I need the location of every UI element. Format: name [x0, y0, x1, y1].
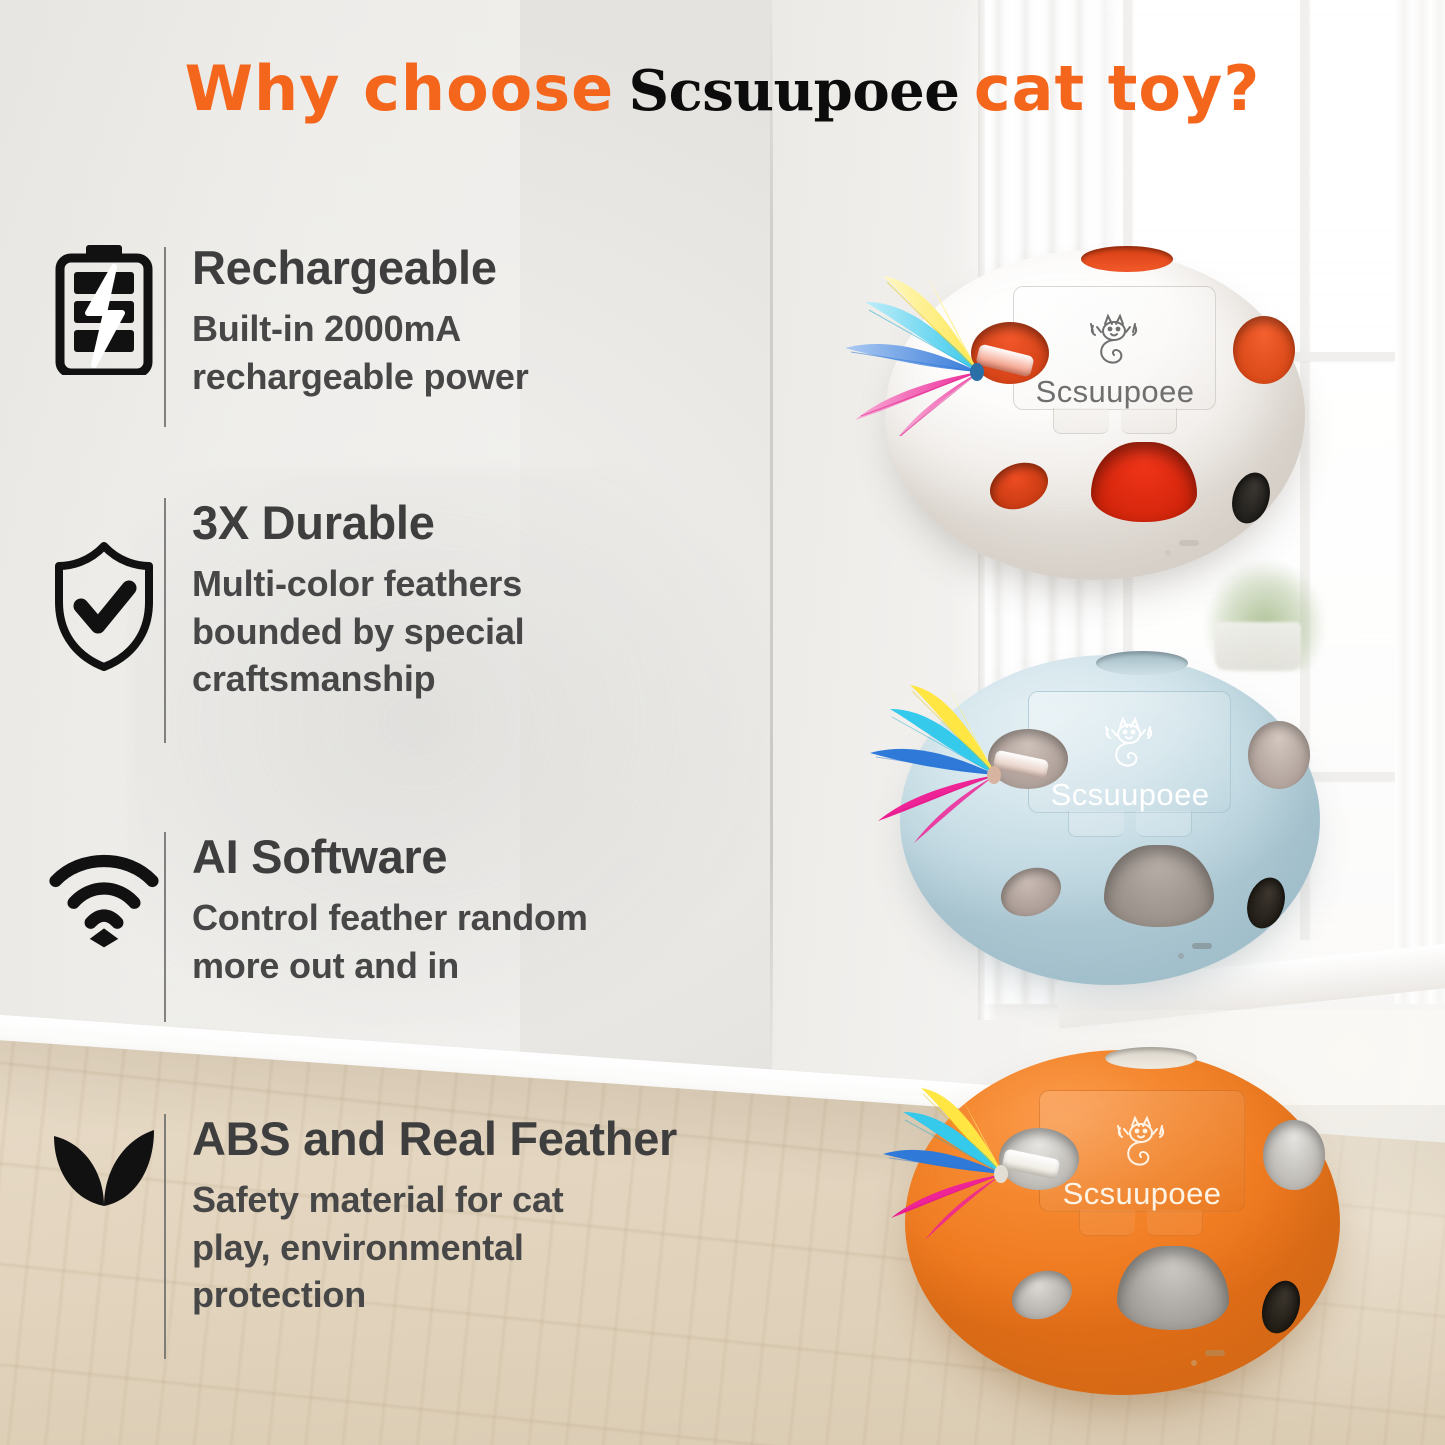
feature-item-abs-real-feather: ABS and Real Feather Safety material for… — [48, 1114, 808, 1359]
battery-charging-icon — [48, 243, 160, 375]
toy-branding: Scsuupoee — [1059, 1112, 1225, 1212]
toy-hole-right-upper — [1233, 316, 1295, 384]
toy-brand-label: Scsuupoee — [1033, 374, 1197, 410]
feature-list: Rechargeable Built-in 2000mA rechargeabl… — [0, 0, 800, 1445]
cat-doodle-logo — [1077, 310, 1153, 372]
feature-description: Safety material for cat play, environmen… — [192, 1176, 642, 1317]
sheer-curtain-right — [1395, 0, 1445, 1004]
feature-title: 3X Durable — [192, 498, 748, 547]
feature-divider — [164, 1114, 166, 1359]
toy-top-slot — [1096, 651, 1188, 675]
toy-branding: Scsuupoee — [1033, 310, 1197, 410]
product-image-orange: Scsuupoee — [905, 1050, 1340, 1395]
rainbow-feather-teaser — [824, 685, 1014, 845]
feature-text: ABS and Real Feather Safety material for… — [192, 1114, 808, 1318]
feature-title: AI Software — [192, 832, 748, 881]
toy-lid-tab — [1068, 811, 1124, 837]
status-led — [1191, 1360, 1197, 1366]
product-image-blue: Scsuupoee — [900, 655, 1320, 985]
rainbow-feather-teaser — [831, 1084, 1021, 1244]
toy-hole-right-upper — [1263, 1120, 1325, 1190]
feature-item-rechargeable: Rechargeable Built-in 2000mA rechargeabl… — [48, 243, 748, 433]
toy-hole-right-upper — [1248, 721, 1310, 789]
feature-divider — [164, 247, 166, 427]
charging-port — [1179, 540, 1199, 546]
toy-lid-tab — [1136, 811, 1192, 837]
toy-brand-label: Scsuupoee — [1059, 1176, 1225, 1212]
charging-port — [1192, 943, 1212, 949]
feature-item-ai-software: AI Software Control feather random more … — [48, 832, 748, 1022]
feature-text: Rechargeable Built-in 2000mA rechargeabl… — [192, 243, 748, 400]
wifi-signal-icon — [48, 832, 160, 950]
toy-branding: Scsuupoee — [1048, 713, 1212, 813]
feature-text: 3X Durable Multi-color feathers bounded … — [192, 498, 748, 702]
product-image-white: Scsuupoee — [885, 250, 1305, 580]
feature-description: Control feather random more out and in — [192, 894, 662, 988]
toy-lid-tab — [1079, 1210, 1135, 1236]
leaf-icon — [48, 1114, 160, 1232]
rainbow-feather-teaser — [807, 276, 997, 436]
feature-item-durable: 3X Durable Multi-color feathers bounded … — [48, 498, 748, 743]
shield-check-icon — [48, 498, 160, 672]
feature-title: Rechargeable — [192, 243, 748, 292]
cat-doodle-logo — [1104, 1112, 1180, 1174]
charging-port — [1205, 1350, 1225, 1356]
toy-top-slot — [1105, 1047, 1197, 1069]
feature-description: Multi-color feathers bounded by special … — [192, 560, 632, 701]
toy-brand-label: Scsuupoee — [1048, 777, 1212, 813]
feature-divider — [164, 498, 166, 743]
feature-title: ABS and Real Feather — [192, 1114, 808, 1163]
status-led — [1178, 953, 1184, 959]
title-part-2: cat toy? — [974, 52, 1260, 125]
feature-divider — [164, 832, 166, 1022]
feature-text: AI Software Control feather random more … — [192, 832, 748, 989]
toy-lid-tab — [1121, 408, 1177, 434]
status-led — [1165, 550, 1171, 556]
cat-doodle-logo — [1092, 713, 1168, 775]
toy-top-slot — [1081, 246, 1173, 272]
feature-description: Built-in 2000mA rechargeable power — [192, 305, 622, 399]
toy-lid-tab — [1053, 408, 1109, 434]
toy-lid-tab — [1147, 1210, 1203, 1236]
